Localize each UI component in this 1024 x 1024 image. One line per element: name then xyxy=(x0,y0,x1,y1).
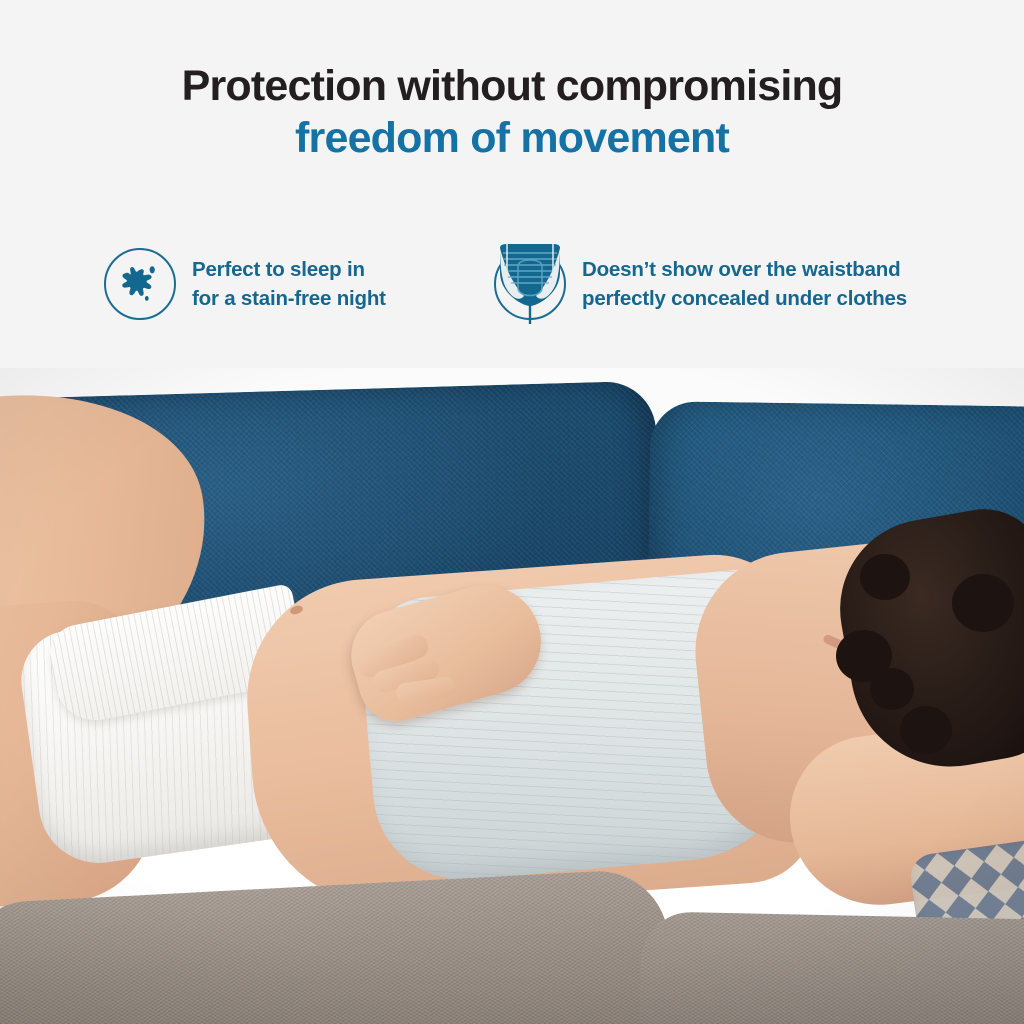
product-benefits-banner: Protection without compromising freedom … xyxy=(0,0,1024,1024)
feature-item-concealed-label: Doesn’t show over the waistband perfectl… xyxy=(582,255,907,313)
hair-curl xyxy=(952,574,1014,632)
feature-item-sleep-label: Perfect to sleep in for a stain-free nig… xyxy=(192,255,386,313)
feature-item-sleep: Perfect to sleep in for a stain-free nig… xyxy=(104,248,386,320)
seat-texture xyxy=(638,911,1024,1024)
headline-line-1: Protection without compromising xyxy=(0,62,1024,111)
page-title: Protection without compromising freedom … xyxy=(0,62,1024,166)
feature-item-concealed: Doesn’t show over the waistband perfectl… xyxy=(494,248,907,320)
couch-seat-cushion-right xyxy=(638,911,1024,1024)
underwear-brief-icon xyxy=(494,248,566,320)
headline-line-2: freedom of movement xyxy=(0,111,1024,166)
hair-curl xyxy=(900,706,952,754)
hair-curl xyxy=(870,668,914,710)
lifestyle-photo xyxy=(0,368,1024,1024)
feature-list: Perfect to sleep in for a stain-free nig… xyxy=(0,248,1024,348)
splash-droplet-icon xyxy=(104,248,176,320)
hair-curl xyxy=(860,554,910,600)
